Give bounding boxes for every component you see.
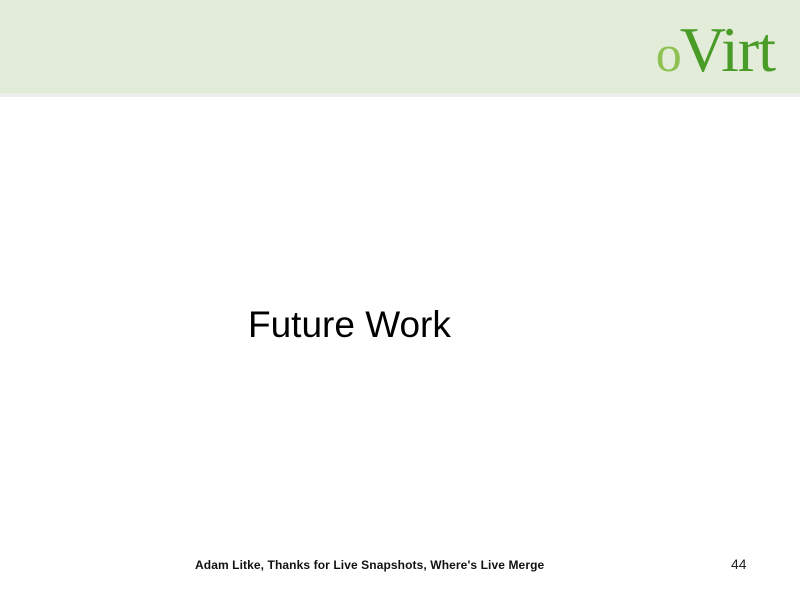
slide-title: Future Work	[248, 303, 451, 347]
presentation-slide: oVirt Future Work Adam Litke, Thanks for…	[0, 0, 800, 600]
page-number: 44	[731, 556, 747, 572]
footer-note: Adam Litke, Thanks for Live Snapshots, W…	[195, 558, 544, 572]
slide-content-area: Future Work	[0, 97, 800, 547]
ovirt-logo: oVirt	[656, 14, 775, 86]
ovirt-logo-o: o	[656, 26, 680, 83]
ovirt-logo-virt: Virt	[680, 14, 775, 85]
slide-footer: Adam Litke, Thanks for Live Snapshots, W…	[0, 554, 800, 600]
